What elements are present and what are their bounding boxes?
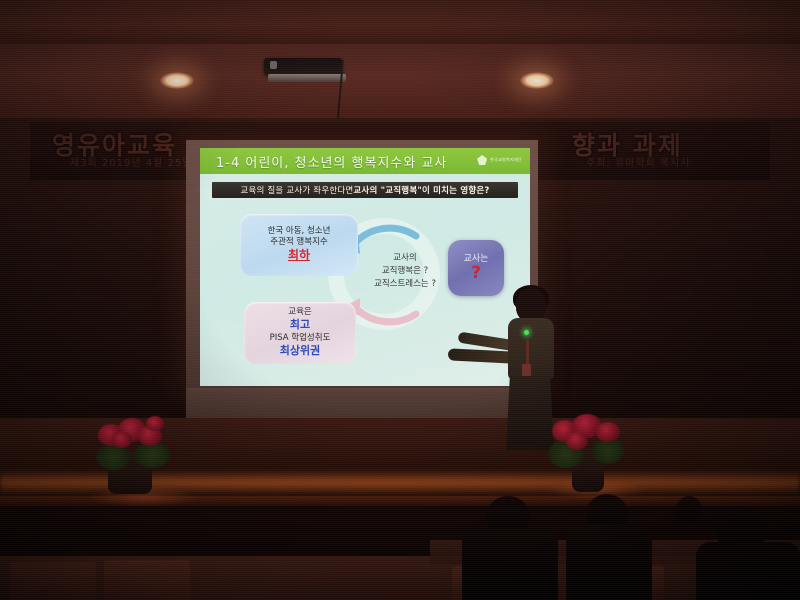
box-pink-highlight2: 최상위권: [280, 344, 320, 359]
box-blue-highlight: 최하: [288, 248, 310, 264]
ceiling: [0, 0, 800, 46]
box-blue-line1: 한국 아동, 청소년: [268, 226, 331, 237]
center-line3: 교직스트레스는 ?: [350, 278, 460, 291]
presenter-torso: [508, 318, 554, 380]
cycle-center-text: 교사의 교직행복은 ? 교직스트레스는 ?: [350, 252, 460, 290]
slide-box-happiness-index: 한국 아동, 청소년 주관적 행복지수 최하: [240, 214, 358, 276]
ceiling-band: [0, 44, 800, 122]
slide-subtitle-bar: 교육의 질을 교사가 좌우한다면 교사의 "교직행복"이 미치는 영향은?: [212, 182, 518, 198]
presenter-lanyard: [526, 340, 529, 366]
audience-shoulders: [566, 524, 652, 600]
box-blue-line2: 주관적 행복지수: [270, 237, 327, 248]
downlight-right-icon: [520, 72, 554, 89]
audience-shoulders: [696, 542, 800, 600]
flower-left-foliage: [96, 444, 130, 470]
audience-head: [676, 496, 702, 522]
flower-left-foliage: [134, 442, 170, 468]
slide-title: 1-4 어린이, 청소년의 행복지수와 교사: [216, 152, 447, 171]
presenter-indicator-light-icon: [524, 330, 529, 335]
slide-box-education: 교육은 최고 PISA 학업성취도 최상위권: [244, 302, 356, 364]
organization-logo: 한국교원복지재단: [477, 155, 522, 165]
seat-back: [10, 562, 96, 600]
center-line2: 교직행복은 ?: [350, 265, 460, 278]
presenter-lower-body: [506, 376, 554, 450]
flower-right-bloom: [566, 432, 588, 450]
downlight-left-icon: [160, 72, 194, 89]
center-line1: 교사의: [350, 252, 460, 265]
presenter-name-tag: [522, 364, 531, 376]
logo-mark-icon: [477, 155, 487, 165]
flower-right-bloom: [596, 422, 620, 442]
presenter-head: [516, 288, 546, 322]
projector-lens-icon: [270, 61, 277, 69]
box-pink-line1: 교육은: [288, 307, 311, 318]
audience-shoulders: [462, 528, 558, 600]
seat-back: [104, 560, 190, 600]
box-pink-line2: PISA 학업성취도: [270, 333, 331, 344]
flower-left-bloom: [146, 416, 164, 431]
slide-subtitle-lead: 교육의 질을 교사가 좌우한다면: [240, 184, 353, 196]
slide-subtitle-emphasis: 교사의 "교직행복"이 미치는 영향은?: [353, 184, 489, 196]
logo-label: 한국교원복지재단: [490, 157, 522, 163]
auditorium-scene: 영유아교육 제3회 2019년 4월 25일 향과 과제 주최: 유아학회 복지…: [0, 0, 800, 600]
flower-left-bloom: [112, 432, 132, 448]
box-purple-question-mark: ?: [471, 265, 481, 282]
banner-subtitle-left: 제3회 2019년 4월 25일: [70, 154, 192, 169]
projector-mount: [268, 74, 346, 82]
box-pink-highlight1: 최고: [290, 318, 310, 333]
banner-subtitle-right: 주최: 유아학회 복지사: [586, 154, 691, 169]
